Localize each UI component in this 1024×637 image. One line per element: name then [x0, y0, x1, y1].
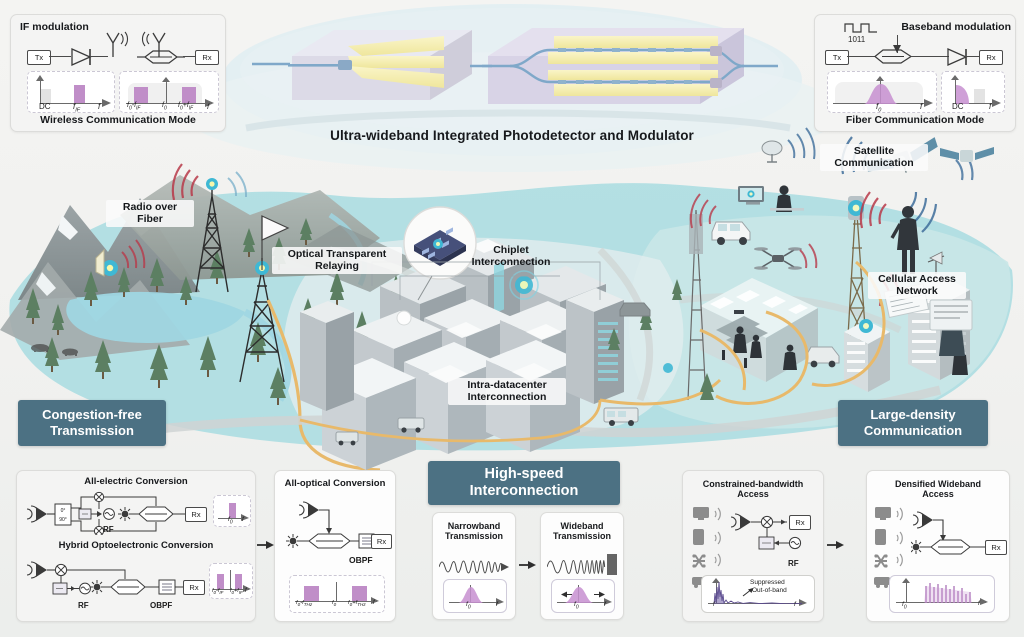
f-axis-label: f — [989, 102, 991, 111]
if-tone-bar — [74, 85, 85, 103]
constrained-title: Constrained-bandwidth Access — [683, 479, 823, 500]
photodiode-icon — [69, 46, 97, 68]
rx-block-optical: Rx — [371, 534, 392, 549]
wireless-mode-panel: IF modulation Tx — [10, 14, 226, 132]
cb-line2: Access — [683, 489, 823, 499]
lsb-if: IF — [136, 105, 140, 111]
densified-wideband-access-panel: Densified Wideband Access — [866, 470, 1010, 622]
f-axis: f — [794, 601, 796, 608]
rx-block-constrained: Rx — [789, 515, 811, 530]
hsi-line2: Interconnection — [470, 483, 579, 500]
narrowband-spectrum-box: f0 f — [443, 579, 507, 613]
dc-label: DC — [952, 102, 964, 111]
spectrum-all-optical: f0-fTHz f0 f0+fTHz f — [289, 575, 385, 613]
upper-sideband-bar — [182, 87, 196, 103]
svg-text:0°: 0° — [61, 508, 66, 514]
wb-line1: Wideband — [541, 521, 623, 531]
densified-title: Densified Wideband Access — [867, 479, 1009, 500]
carrier-label: f0 — [876, 102, 881, 114]
bandwidth-arrows-icon — [560, 590, 606, 599]
wideband-title: Wideband Transmission — [541, 521, 623, 542]
sat-line1: Satellite — [824, 145, 924, 157]
otr-line2: Relaying — [276, 260, 398, 272]
tx-block: Tx — [27, 50, 51, 65]
bitstream-label: 1011 — [848, 35, 865, 44]
idc-line1: Intra-datacenter — [452, 379, 562, 391]
fiber-wire — [911, 56, 949, 57]
cellular-access-network-label: Cellular Access Network — [868, 272, 966, 299]
carr-0: 0 — [164, 105, 167, 111]
photodiode-icon — [945, 46, 973, 68]
dw-line1: Densified Wideband — [867, 479, 1009, 489]
spectrum-optical-carrier: f0 f — [827, 71, 937, 113]
idc-line2: Interconnection — [452, 391, 562, 403]
fiber-mode-caption: Fiber Communication Mode — [815, 114, 1015, 126]
rx-block-electric: Rx — [185, 507, 207, 522]
modulator-icon — [137, 49, 185, 65]
baseband-modulation-heading: Baseband modulation — [885, 21, 1011, 33]
nb-line2: Transmission — [433, 531, 515, 541]
svg-text:90°: 90° — [59, 517, 67, 523]
wireless-mode-caption: Wireless Communication Mode — [11, 114, 225, 126]
wideband-transmission-panel: Wideband Transmission f0 f — [540, 512, 624, 620]
usb-bar — [235, 574, 242, 589]
cb-line1: Constrained-bandwidth — [683, 479, 823, 489]
narrowband-transmission-panel: Narrowband Transmission f0 f — [432, 512, 516, 620]
narrowband-title: Narrowband Transmission — [433, 521, 515, 542]
hybrid-conversion-title: Hybrid Optoelectronic Conversion — [17, 541, 255, 552]
can-line1: Cellular Access — [872, 273, 962, 285]
f-axis: f — [604, 601, 606, 608]
can-line2: Network — [872, 285, 962, 297]
rf-label-hybrid: RF — [78, 601, 89, 610]
figure-canvas: Ultra-wideband Integrated Photodetector … — [0, 0, 1024, 637]
congestion-free-transmission-banner: Congestion-free Transmission — [18, 400, 166, 446]
note-arrow-icon — [742, 587, 754, 597]
carrier-lobe — [864, 83, 898, 104]
intra-datacenter-interconnection-label: Intra-datacenter Interconnection — [448, 378, 566, 405]
o-02: 0 — [334, 602, 337, 607]
hybrid-schematic — [25, 555, 210, 605]
lsb-label: f0-fIF — [212, 588, 223, 595]
optical-transparent-relaying-label: Optical Transparent Relaying — [272, 247, 402, 274]
radio-over-fiber-label: Radio over Fiber — [106, 200, 194, 227]
chiplet-line2: Interconnection — [466, 256, 556, 268]
bitstream-icon — [843, 21, 885, 35]
lower-sideband-label: f0-fIF — [127, 102, 140, 111]
large-density-communication-banner: Large-density Communication — [838, 400, 988, 446]
carrier-label: f0 — [162, 102, 167, 111]
rof-line2: Fiber — [110, 213, 190, 225]
upper-sideband-label: f0+fIF — [178, 102, 193, 111]
dc-label: DC — [39, 102, 51, 111]
f-if-sub: IF — [75, 108, 80, 114]
thz-lsb-bar — [304, 586, 319, 601]
cft-line2: Transmission — [42, 423, 142, 439]
comb-lines — [924, 582, 972, 603]
tx-block: Tx — [825, 50, 849, 65]
access-arrow-icon — [826, 538, 846, 552]
spectrum-baseband: DC fIF f — [27, 71, 115, 113]
suppressed-note-line1: Suppressed — [750, 579, 785, 586]
suppressed-note-line2: Out-of-band — [752, 587, 787, 594]
usb-label: f0+fIF — [230, 588, 243, 595]
f-axis: f — [373, 600, 375, 606]
otr-line1: Optical Transparent — [276, 248, 398, 260]
chiplet-line1: Chiplet — [466, 244, 556, 256]
thz-lsb-label: f0-fTHz — [296, 600, 312, 607]
tx-wire — [847, 56, 875, 57]
obpf-label-hybrid: OBPF — [150, 601, 172, 610]
constrained-bandwidth-access-panel: Constrained-bandwidth Access — [682, 470, 824, 622]
o-thz2: THz — [357, 602, 365, 607]
f-axis: f — [242, 516, 244, 523]
thz-carrier-label: f0 — [332, 600, 336, 607]
satellite-communication-label: Satellite Communication — [820, 144, 928, 171]
f-axis: f — [978, 600, 980, 607]
thz-usb-label: f0+fTHz — [348, 600, 366, 607]
ldc-line1: Large-density — [864, 407, 962, 423]
f-if-label: fIF — [73, 102, 80, 114]
lsb-bar — [217, 574, 224, 589]
f-axis-label: f — [920, 102, 922, 111]
pd-out-wire — [965, 56, 979, 57]
h-if1: IF — [219, 590, 223, 595]
chiplet-interconnection-label: Chiplet Interconnection — [462, 243, 560, 270]
f-axis: f — [245, 588, 247, 594]
wb-0: 0 — [576, 604, 579, 610]
conversion-panel: All-electric Conversion 0° 90° — [16, 470, 256, 622]
all-electric-conversion-title: All-electric Conversion — [17, 477, 255, 488]
high-speed-interconnection-banner: High-speed Interconnection — [428, 461, 620, 505]
narrow-lobe — [458, 587, 484, 603]
f0-label: f0 — [228, 516, 233, 525]
all-optical-title: All-optical Conversion — [275, 479, 395, 490]
narrowband-waveform — [439, 549, 509, 575]
usb-if: IF — [189, 105, 193, 111]
all-optical-conversion-panel: All-optical Conversion Rx OBPF — [274, 470, 396, 622]
dw-0: 0 — [904, 604, 907, 610]
densified-schematic — [911, 507, 1005, 567]
rf-label-constrained: RF — [788, 559, 799, 568]
spectrum-all-electric: f0 f — [213, 495, 251, 527]
fx-label: f — [713, 602, 715, 608]
interconnection-arrow-icon — [518, 558, 538, 572]
antenna-tx-icon — [99, 31, 133, 59]
tx-wire — [49, 56, 71, 57]
rx-block-hybrid: Rx — [183, 580, 205, 595]
obpf-label-optical: OBPF — [349, 555, 373, 565]
spectrum-rf-sidebands: f0-fIF f0 f0+fIF f — [119, 71, 219, 113]
thz-usb-bar — [352, 586, 367, 601]
center-title: Ultra-wideband Integrated Photodetector … — [282, 128, 742, 144]
rx-block-densified: Rx — [985, 540, 1007, 555]
nb-line1: Narrowband — [433, 521, 515, 531]
densified-spectrum-box: f0 f — [889, 575, 995, 613]
f0-label: f0 — [466, 601, 471, 610]
carr-0: 0 — [878, 108, 881, 114]
o-thz1: THz — [304, 602, 312, 607]
constrained-spectrum-box: f f Suppressed Out-of-band — [701, 575, 815, 613]
wb-line2: Transmission — [541, 531, 623, 541]
h-if2: IF — [239, 590, 243, 595]
ldc-line2: Communication — [864, 423, 962, 439]
wideband-spectrum-box: f0 f — [551, 579, 615, 613]
rx-block: Rx — [979, 50, 1003, 65]
nb-0: 0 — [468, 604, 471, 610]
sat-line2: Communication — [824, 157, 924, 169]
f0-label: f0 — [574, 601, 579, 610]
f0-label: f0 — [902, 601, 907, 610]
hsi-line1: High-speed — [470, 466, 579, 483]
rx-block: Rx — [195, 50, 219, 65]
cft-line1: Congestion-free — [42, 407, 142, 423]
f-axis: f — [496, 601, 498, 608]
rof-line1: Radio over — [110, 201, 190, 213]
fiber-mode-panel: Baseband modulation 1011 Tx Rx — [814, 14, 1016, 132]
spectrum-hybrid: f0-fIF f0+fIF f — [209, 563, 253, 599]
rf-label-electric: RF — [103, 525, 114, 534]
f-axis-label: f — [98, 102, 100, 111]
all-optical-schematic — [285, 497, 389, 559]
f-axis-label: f — [207, 102, 209, 111]
wideband-waveform — [547, 549, 617, 575]
lower-sideband-bar — [134, 87, 148, 103]
rx-wire — [183, 56, 195, 57]
sp-0: 0 — [230, 519, 233, 525]
conversion-arrow-icon — [256, 538, 276, 552]
dw-line2: Access — [867, 489, 1009, 499]
dc-component — [41, 89, 51, 103]
spectrum-detected-baseband: DC f — [941, 71, 1005, 113]
